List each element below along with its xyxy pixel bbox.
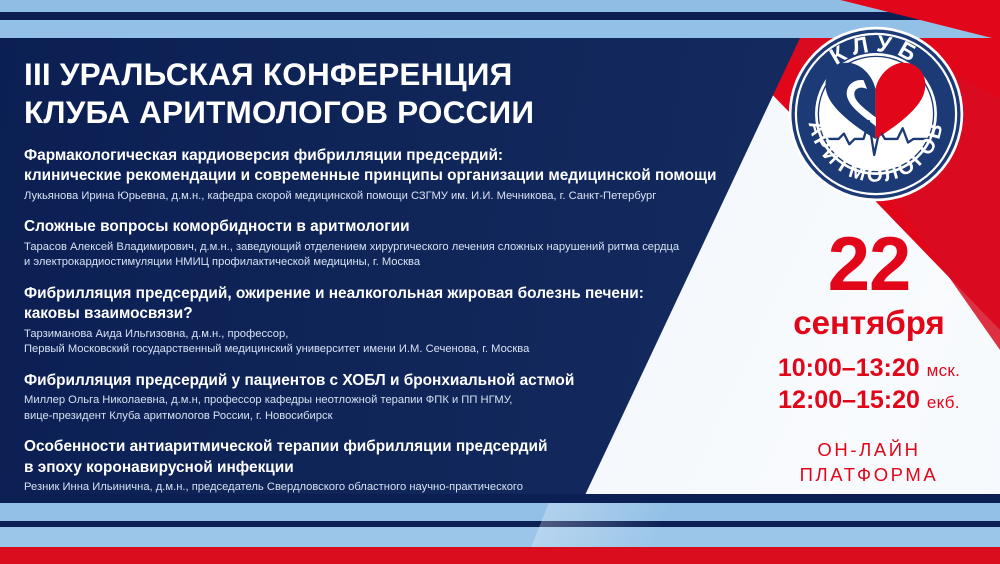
page-title: III УРАЛЬСКАЯ КОНФЕРЕНЦИЯ КЛУБА АРИТМОЛО…: [24, 55, 664, 132]
headline-line-2: КЛУБА АРИТМОЛОГОВ РОССИИ: [24, 93, 664, 131]
bottom-stripe-lightblue-2: [0, 527, 1000, 547]
bottom-stripe-lightblue-1: [0, 503, 1000, 521]
list-item: Фибрилляция предсердий у пациентов с ХОБ…: [24, 371, 769, 424]
talk-title: Сложные вопросы коморбидности в аритмоло…: [24, 217, 769, 237]
event-month: сентября: [738, 303, 1000, 343]
talk-title: Фармакологическая кардиоверсия фибрилляц…: [24, 146, 769, 187]
time-ekaterinburg-value: 12:00–15:20: [778, 386, 920, 414]
list-item: Фармакологическая кардиоверсия фибрилляц…: [24, 146, 769, 204]
platform-label-line-1: ОН-ЛАЙН: [738, 438, 1000, 463]
talk-title: Фибрилляция предсердий у пациентов с ХОБ…: [24, 371, 769, 391]
event-day: 22: [738, 232, 1000, 299]
bottom-stripe-sheen: [531, 503, 669, 547]
headline-line-1: III УРАЛЬСКАЯ КОНФЕРЕНЦИЯ: [24, 55, 664, 93]
time-moscow-zone: мск.: [927, 361, 961, 380]
talk-author: Тарасов Алексей Владимирович, д.м.н., за…: [24, 240, 769, 271]
time-moscow: 10:00–13:20 мск.: [738, 354, 1000, 383]
talk-author: Миллер Ольга Николаевна, д.м.н, профессо…: [24, 393, 769, 424]
top-stripe-navy: [0, 12, 1000, 20]
bottom-stripe-navy-1: [0, 494, 1000, 503]
talk-title: Фибрилляция предсердий, ожирение и неалк…: [24, 284, 769, 325]
time-ekaterinburg: 12:00–15:20 екб.: [738, 386, 1000, 415]
event-details: 22 сентября 10:00–13:20 мск. 12:00–15:20…: [738, 232, 1000, 529]
bottom-stripe-red: [0, 547, 1000, 564]
time-moscow-value: 10:00–13:20: [778, 354, 920, 382]
talk-title: Особенности антиаритмической терапии фиб…: [24, 437, 769, 478]
platform-label-line-2: ПЛАТФОРМА: [738, 463, 1000, 488]
list-item: Фибрилляция предсердий, ожирение и неалк…: [24, 284, 769, 358]
platform-label: ОН-ЛАЙН ПЛАТФОРМА: [738, 438, 1000, 488]
list-item: Сложные вопросы коморбидности в аритмоло…: [24, 217, 769, 270]
club-logo: КЛУБ АРИТМОЛОГОВ: [787, 25, 965, 203]
talk-author: Лукьянова Ирина Юрьевна, д.м.н., кафедра…: [24, 189, 769, 204]
talk-author: Тарзиманова Аида Ильгизовна, д.м.н., про…: [24, 327, 769, 358]
heart-ecg-icon: КЛУБ АРИТМОЛОГОВ: [787, 25, 965, 203]
talks-list: Фармакологическая кардиоверсия фибрилляц…: [24, 146, 769, 524]
conference-poster: III УРАЛЬСКАЯ КОНФЕРЕНЦИЯ КЛУБА АРИТМОЛО…: [0, 0, 1000, 564]
bottom-stripe-band: [0, 494, 1000, 564]
time-ekaterinburg-zone: екб.: [927, 393, 960, 412]
